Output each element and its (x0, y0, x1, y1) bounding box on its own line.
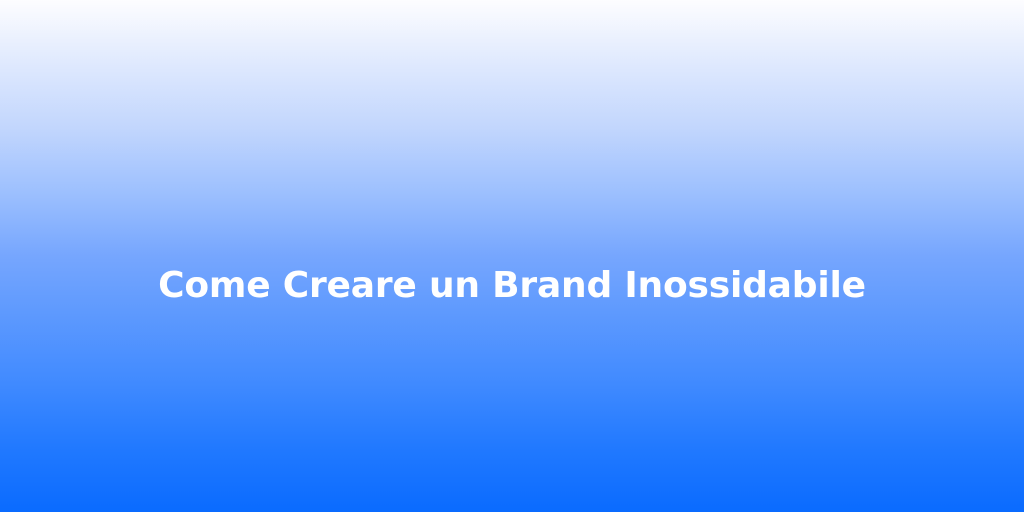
hero-title-container: Come Creare un Brand Inossidabile (0, 265, 1024, 307)
hero-banner: Come Creare un Brand Inossidabile (0, 0, 1024, 512)
page-title: Come Creare un Brand Inossidabile (48, 265, 976, 307)
